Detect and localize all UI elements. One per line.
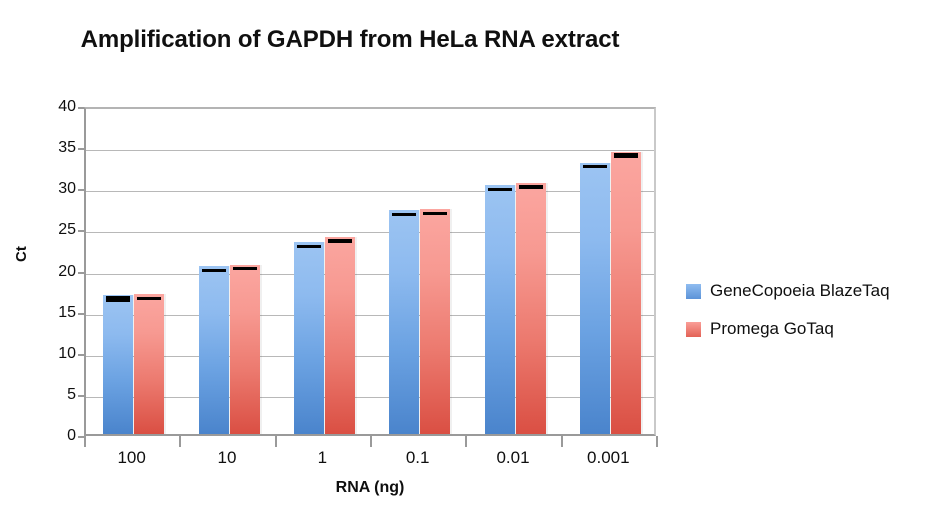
error-bar — [488, 188, 512, 191]
bar-edge-shadow — [546, 183, 548, 434]
gridline — [86, 232, 654, 233]
gridline — [86, 191, 654, 192]
error-bar — [202, 269, 226, 272]
y-axis-tick-label: 10 — [36, 345, 76, 363]
error-bar-stem — [338, 239, 341, 243]
bar — [420, 209, 450, 434]
gridline — [86, 397, 654, 398]
gridline — [86, 356, 654, 357]
y-axis-tick-label: 25 — [36, 221, 76, 239]
x-axis-tick-label: 0.01 — [465, 448, 560, 468]
bar — [580, 163, 610, 434]
chart-legend: GeneCopoeia BlazeTaqPromega GoTaq — [686, 272, 890, 348]
error-bar-stem — [243, 267, 246, 270]
error-bar-stem — [624, 153, 627, 158]
y-axis-title: Ct — [13, 246, 30, 262]
error-bar — [583, 165, 607, 168]
x-axis-tick-label: 1 — [275, 448, 370, 468]
bar — [103, 295, 133, 434]
bar-edge-shadow — [260, 265, 262, 434]
gridline — [86, 315, 654, 316]
x-axis-tick-mark — [561, 436, 563, 447]
error-bar — [423, 212, 447, 215]
y-axis-tick-label: 0 — [36, 427, 76, 445]
y-axis-tick-label: 30 — [36, 180, 76, 198]
error-bar-stem — [498, 188, 501, 191]
error-bar — [297, 245, 321, 248]
y-axis-tick-label: 20 — [36, 263, 76, 281]
legend-item-label: Promega GoTaq — [710, 319, 834, 339]
bar — [294, 242, 324, 434]
error-bar — [328, 239, 352, 243]
bar-edge-shadow — [450, 209, 452, 434]
gridline — [86, 150, 654, 151]
bar — [516, 183, 546, 434]
bar-edge-shadow — [164, 294, 166, 434]
x-axis-title: RNA (ng) — [84, 479, 656, 497]
legend-color-swatch — [686, 284, 701, 299]
y-axis-tick-label: 35 — [36, 139, 76, 157]
x-axis-tick-mark — [656, 436, 658, 447]
error-bar — [392, 213, 416, 216]
x-axis-tick-mark — [275, 436, 277, 447]
bar-edge-shadow — [641, 152, 643, 434]
bar — [199, 266, 229, 434]
y-axis-tick-label: 5 — [36, 386, 76, 404]
x-axis-tick-mark — [370, 436, 372, 447]
error-bar-stem — [593, 165, 596, 168]
x-axis-tick-label: 0.1 — [370, 448, 465, 468]
chart-root: Amplification of GAPDH from HeLa RNA ext… — [0, 0, 926, 532]
error-bar — [519, 185, 543, 188]
bar — [485, 185, 515, 434]
bar — [325, 237, 355, 434]
plot-area — [84, 107, 656, 436]
x-axis-tick-label: 10 — [179, 448, 274, 468]
error-bar-stem — [148, 297, 151, 300]
x-axis-tick-mark — [84, 436, 86, 447]
y-axis-tick-label: 15 — [36, 304, 76, 322]
error-bar-stem — [307, 245, 310, 248]
bar — [230, 265, 260, 434]
legend-item-label: GeneCopoeia BlazeTaq — [710, 281, 890, 301]
x-axis-tick-label: 0.001 — [561, 448, 656, 468]
x-axis-tick-label: 100 — [84, 448, 179, 468]
bar — [134, 294, 164, 434]
legend-color-swatch — [686, 322, 701, 337]
error-bar-stem — [212, 269, 215, 272]
bar — [611, 152, 641, 434]
error-bar-stem — [403, 213, 406, 216]
chart-title: Amplification of GAPDH from HeLa RNA ext… — [0, 26, 700, 54]
error-bar — [233, 267, 257, 270]
legend-item[interactable]: GeneCopoeia BlazeTaq — [686, 272, 890, 310]
error-bar-stem — [434, 212, 437, 215]
error-bar-stem — [117, 296, 120, 302]
error-bar — [614, 153, 638, 158]
legend-item[interactable]: Promega GoTaq — [686, 310, 890, 348]
gridline — [86, 274, 654, 275]
error-bar — [106, 296, 130, 302]
y-axis-tick-labels: 0510152025303540 — [30, 107, 76, 436]
bar-edge-shadow — [355, 237, 357, 434]
error-bar-stem — [529, 185, 532, 188]
error-bar — [137, 297, 161, 300]
y-axis-tick-label: 40 — [36, 98, 76, 116]
x-axis-tick-mark — [179, 436, 181, 447]
bar — [389, 210, 419, 434]
x-axis-tick-mark — [465, 436, 467, 447]
